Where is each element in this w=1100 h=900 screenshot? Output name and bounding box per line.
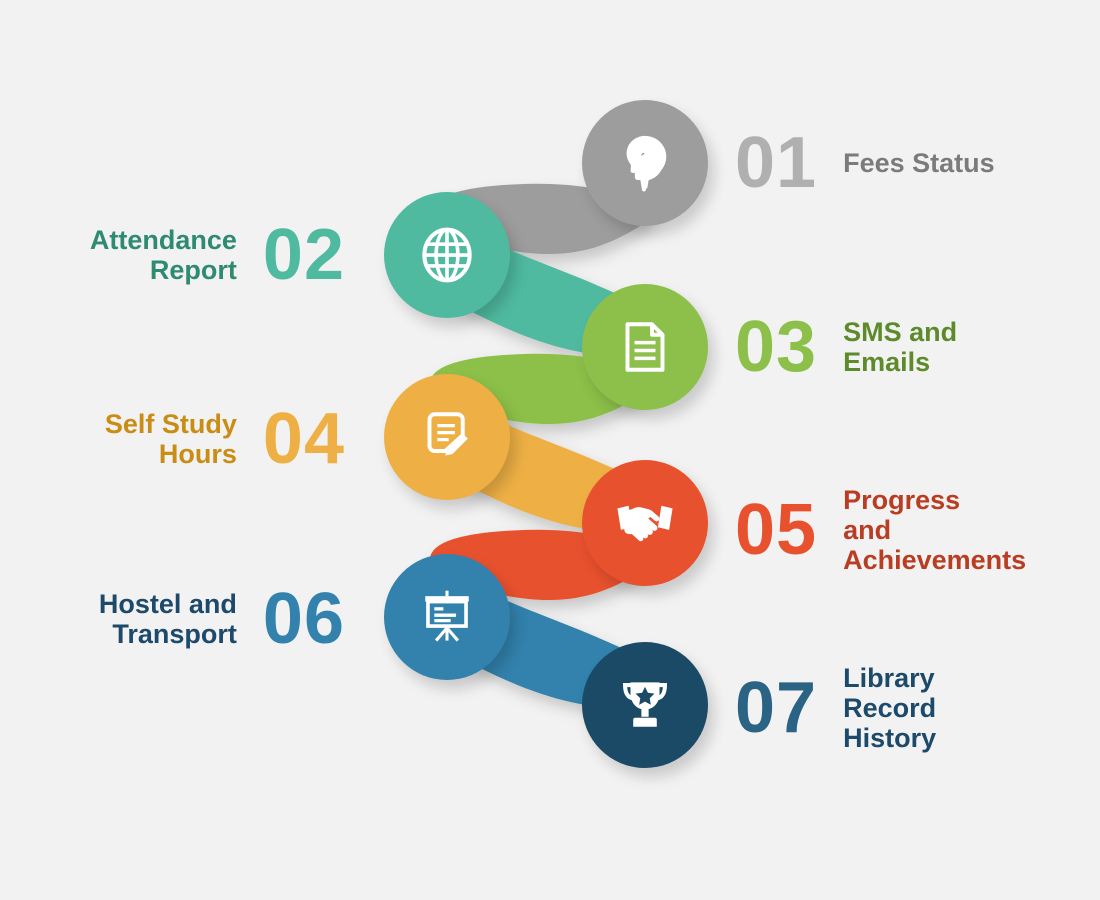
notepad-pencil-icon	[419, 409, 475, 465]
item-label-04: Self Study Hours	[105, 409, 237, 469]
label-block-04: Self Study Hours 04	[0, 392, 345, 486]
label-block-02: Attendance Report 02	[0, 212, 345, 298]
label-block-06: Hostel and Transport 06	[0, 572, 345, 666]
item-label-05: Progress and Achievements	[843, 485, 1026, 576]
item-label-03: SMS and Emails	[843, 317, 957, 377]
item-label-01: Fees Status	[843, 148, 995, 178]
label-block-01: 01 Fees Status	[735, 120, 1095, 206]
label-block-05: 05 Progress and Achievements	[735, 470, 1100, 590]
globe-icon	[418, 226, 476, 284]
label-block-07: 07 Library Record History	[735, 648, 1095, 768]
item-label-06: Hostel and Transport	[99, 589, 237, 649]
node-06-hostel-and-transport[interactable]	[384, 554, 510, 680]
node-01-fees-status[interactable]	[582, 100, 708, 226]
item-number-05: 05	[735, 494, 817, 566]
handshake-icon	[614, 496, 676, 550]
document-icon	[617, 319, 673, 375]
node-04-self-study-hours[interactable]	[384, 374, 510, 500]
node-03-sms-and-emails[interactable]	[582, 284, 708, 410]
item-label-02: Attendance Report	[90, 225, 237, 285]
item-number-07: 07	[735, 672, 817, 744]
item-number-01: 01	[735, 127, 817, 199]
infographic-canvas: 01 Fees Status Attendance Report 02	[0, 0, 1100, 900]
item-number-03: 03	[735, 311, 817, 383]
node-07-library-record-history[interactable]	[582, 642, 708, 768]
item-label-07: Library Record History	[843, 663, 936, 754]
head-brain-icon	[614, 132, 676, 194]
item-number-06: 06	[263, 583, 345, 655]
item-number-04: 04	[263, 403, 345, 475]
node-05-progress-and-achievements[interactable]	[582, 460, 708, 586]
trophy-icon	[616, 676, 674, 734]
presentation-board-icon	[418, 588, 476, 646]
label-block-03: 03 SMS and Emails	[735, 300, 1095, 394]
item-number-02: 02	[263, 219, 345, 291]
node-02-attendance-report[interactable]	[384, 192, 510, 318]
